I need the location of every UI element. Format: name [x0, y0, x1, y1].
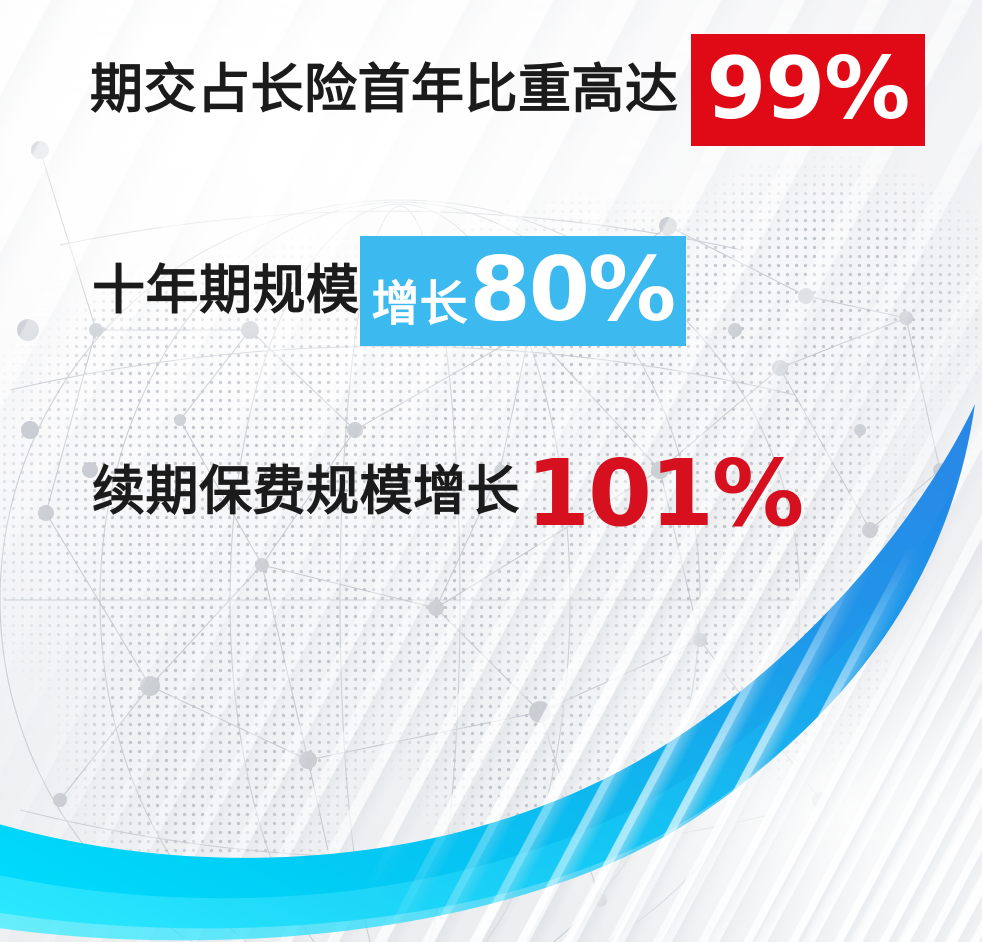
headline-label-2: 十年期规模 — [92, 263, 360, 319]
headline-row-2: 十年期规模 增长 80% — [92, 236, 686, 346]
stat-badge-80: 增长 80% — [360, 236, 687, 346]
headline-label-3: 续期保费规模增长 — [92, 463, 520, 521]
stat-value-101: 101% — [526, 448, 802, 540]
stat-badge-80-prefix: 增长 — [372, 280, 468, 328]
stat-badge-80-value: 80% — [470, 246, 675, 334]
stat-badge-99: 99% — [691, 34, 926, 146]
infographic-poster: 期交占长险首年比重高达 99% 十年期规模 增长 80% 续期保费规模增长 10… — [0, 0, 982, 942]
headline-label-1: 期交占长险首年比重高达 — [90, 62, 679, 118]
headline-row-1: 期交占长险首年比重高达 99% — [90, 34, 925, 146]
headline-row-3: 续期保费规模增长 101% — [92, 446, 802, 538]
